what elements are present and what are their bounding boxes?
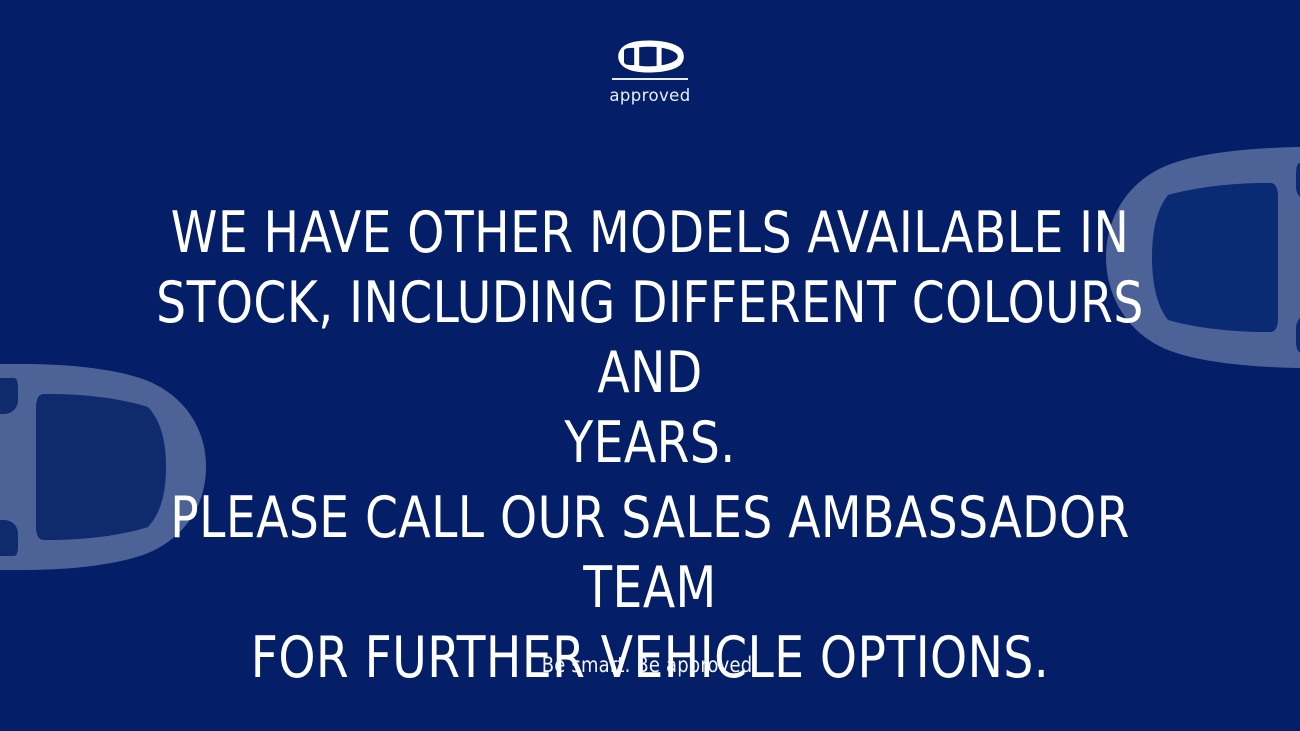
headline-primary-line-2: STOCK, INCLUDING DIFFERENT COLOURS AND xyxy=(126,268,1175,408)
headline-secondary-line-1: PLEASE CALL OUR SALES AMBASSADOR TEAM xyxy=(126,483,1175,623)
slide-canvas: approved WE HAVE OTHER MODELS AVAILABLE … xyxy=(0,0,1300,731)
headline-primary: WE HAVE OTHER MODELS AVAILABLE IN STOCK,… xyxy=(126,198,1175,478)
headline-primary-line-3: YEARS. xyxy=(126,408,1175,478)
tagline: Be smart. Be approved. xyxy=(33,652,1268,678)
logo-divider xyxy=(612,78,688,80)
car-top-view-icon xyxy=(615,40,685,73)
logo-wordmark: approved xyxy=(609,86,690,105)
headline-primary-line-1: WE HAVE OTHER MODELS AVAILABLE IN xyxy=(126,198,1175,268)
brand-logo: approved xyxy=(0,40,1300,105)
